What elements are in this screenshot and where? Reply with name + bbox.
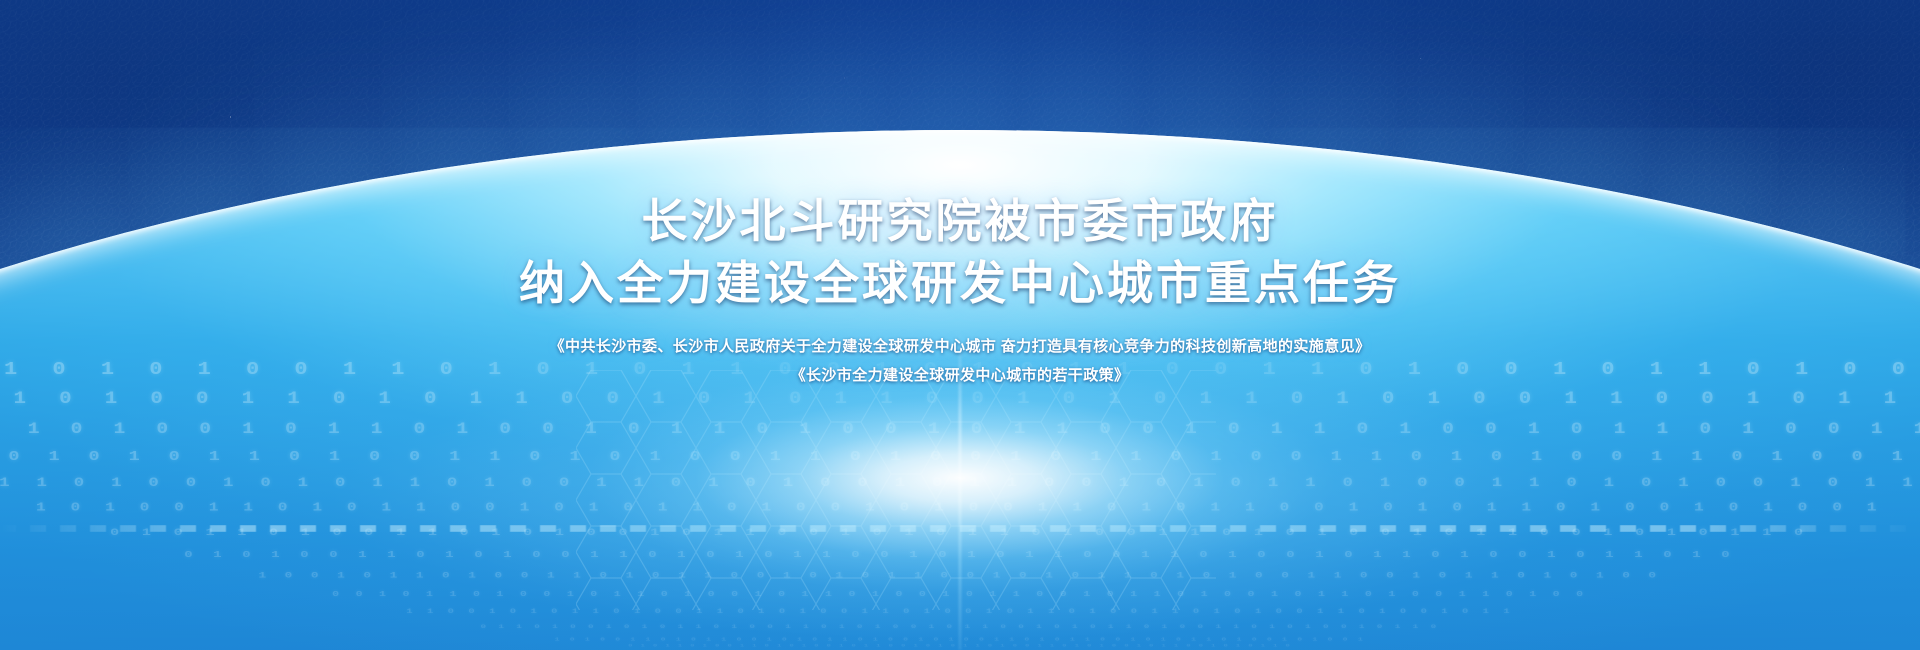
banner-text-block: 长沙北斗研究院被市委市政府 纳入全力建设全球研发中心城市重点任务 《中共长沙市委… bbox=[0, 190, 1920, 390]
banner-subtitle-line-1: 《中共长沙市委、长沙市人民政府关于全力建设全球研发中心城市 奋力打造具有核心竞争… bbox=[0, 332, 1920, 361]
promo-banner: 0 1 0 1 1 0 1 0 0 1 1 0 1 0 1 0 0 1 0 1 … bbox=[0, 0, 1920, 650]
banner-title-line-1: 长沙北斗研究院被市委市政府 bbox=[0, 190, 1920, 252]
banner-subtitle-line-2: 《长沙市全力建设全球研发中心城市的若干政策》 bbox=[0, 361, 1920, 390]
banner-subtitle-block: 《中共长沙市委、长沙市人民政府关于全力建设全球研发中心城市 奋力打造具有核心竞争… bbox=[0, 332, 1920, 390]
banner-title-line-2: 纳入全力建设全球研发中心城市重点任务 bbox=[0, 252, 1920, 314]
